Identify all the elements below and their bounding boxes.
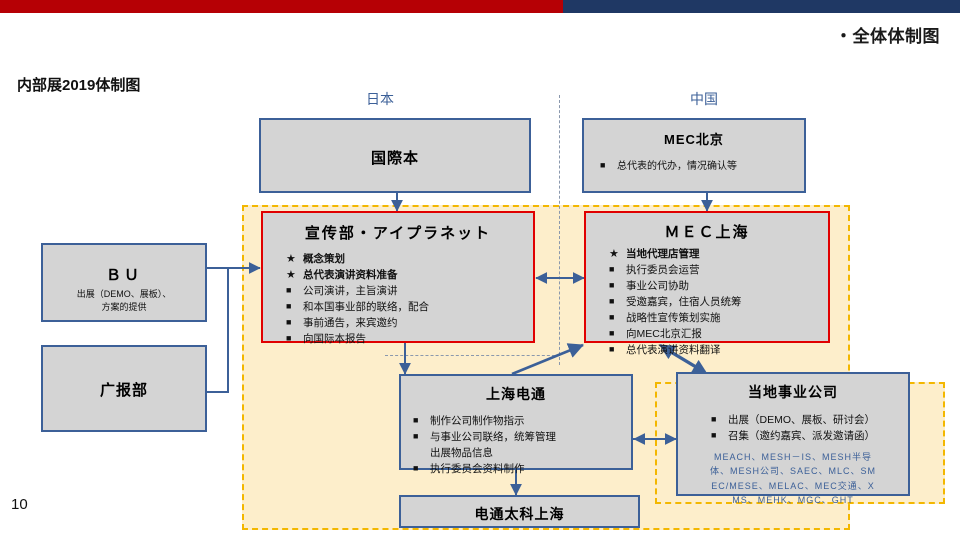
list-item: ■ 向MEC北京汇报 — [609, 327, 828, 343]
list-item-label: 执行委员会运营 — [626, 264, 700, 276]
node-bu[interactable]: ＢＵ 出展（DEMO、展板）、 方案的提供 — [41, 243, 207, 322]
affiliate-line: EC/MESE、MELAC、MEC交通、X — [678, 479, 908, 493]
list-item: ■ 总代表演讲资料翻译 — [609, 343, 828, 359]
node-publicity-iplanet-list: ★ 概念策划 ★ 总代表演讲资料准备 ■ 公司演讲，主旨演讲 ■ 和本国事业部的… — [286, 252, 533, 348]
bullet-star-icon: ★ — [286, 267, 296, 284]
bullet-square-icon: ■ — [609, 263, 614, 277]
bullet-square-icon: ■ — [286, 300, 291, 314]
list-item-label: 总代表的代办，情况确认等 — [617, 161, 737, 172]
list-item-label: 当地代理店管理 — [626, 248, 700, 260]
list-item-label: 制作公司制作物指示 — [430, 415, 525, 427]
list-item: ■ 与事业公司联络，统筹管理 — [413, 430, 631, 446]
list-item: 出展物品信息 — [413, 446, 631, 462]
node-local-business-company[interactable]: 当地事业公司 ■ 出展（DEMO、展板、研讨会） ■ 召集（邀约嘉宾、派发邀请函… — [676, 372, 910, 496]
list-item: ■ 和本国事业部的联络，配合 — [286, 300, 533, 316]
bullet-square-icon: ■ — [609, 343, 614, 357]
node-mec-shanghai-list: ★ 当地代理店管理 ■ 执行委员会运营 ■ 事业公司协助 ■ 受邀嘉宾，住宿人员… — [609, 247, 828, 359]
list-item-label: 出展物品信息 — [430, 447, 493, 459]
node-shanghai-dentsu[interactable]: 上海电通 ■ 制作公司制作物指示 ■ 与事业公司联络，统筹管理 出展物品信息 ■… — [399, 374, 633, 470]
list-item: ■ 召集（邀约嘉宾、派发邀请函） — [711, 429, 908, 445]
list-item-label: 出展（DEMO、展板、研讨会） — [728, 414, 875, 426]
bullet-square-icon: ■ — [286, 316, 291, 330]
bullet-square-icon: ■ — [609, 311, 614, 325]
list-item: ■ 事业公司协助 — [609, 279, 828, 295]
node-pr-department[interactable]: 广报部 — [41, 345, 207, 432]
bullet-square-icon: ■ — [286, 332, 291, 346]
list-item: ■ 公司演讲，主旨演讲 — [286, 284, 533, 300]
bullet-star-icon: ★ — [609, 246, 619, 263]
affiliate-line: MEACH、MESH－IS、MESH半导 — [678, 450, 908, 464]
bullet-square-icon: ■ — [609, 295, 614, 309]
list-item-label: 总代表演讲资料准备 — [303, 269, 398, 281]
node-bu-subtitle-line2: 方案的提供 — [43, 301, 205, 314]
node-pr-department-title: 广报部 — [43, 379, 205, 400]
list-item-label: 向MEC北京汇报 — [626, 328, 702, 340]
affiliate-line: MS、MEHK、MGC、GHT — [678, 493, 908, 507]
list-item-label: 事前通告，来宾邀约 — [303, 317, 398, 329]
list-item-label: 召集（邀约嘉宾、派发邀请函） — [728, 430, 875, 442]
node-mec-beijing-title: MEC北京 — [584, 129, 804, 148]
node-bu-subtitle-line1: 出展（DEMO、展板）、 — [43, 288, 205, 301]
list-item: ★ 当地代理店管理 — [609, 247, 828, 263]
bullet-square-icon: ■ — [609, 279, 614, 293]
list-item: ■ 战略性宣传策划实施 — [609, 311, 828, 327]
node-mec-beijing-list: ■ 总代表的代办，情况确认等 — [600, 159, 804, 174]
list-item-label: 受邀嘉宾，住宿人员统筹 — [626, 296, 742, 308]
affiliate-line: 体、MESH公司、SAEC、MLC、SM — [678, 464, 908, 478]
list-item: ★ 总代表演讲资料准备 — [286, 268, 533, 284]
node-publicity-iplanet[interactable]: 宣传部・アイプラネット ★ 概念策划 ★ 总代表演讲资料准备 ■ 公司演讲，主旨… — [261, 211, 535, 343]
node-kokusai-hq[interactable]: 国際本 — [259, 118, 531, 193]
node-local-business-company-list: ■ 出展（DEMO、展板、研讨会） ■ 召集（邀约嘉宾、派发邀请函） — [711, 413, 908, 445]
bullet-square-icon: ■ — [286, 284, 291, 298]
list-item: ■ 执行委员会资料制作 — [413, 462, 631, 478]
list-item: ★ 概念策划 — [286, 252, 533, 268]
list-item: ■ 受邀嘉宾，住宿人员统筹 — [609, 295, 828, 311]
list-item-label: 公司演讲，主旨演讲 — [303, 285, 398, 297]
bullet-square-icon: ■ — [711, 429, 716, 443]
node-local-business-company-affiliates: MEACH、MESH－IS、MESH半导 体、MESH公司、SAEC、MLC、S… — [678, 450, 908, 508]
node-shanghai-dentsu-list: ■ 制作公司制作物指示 ■ 与事业公司联络，统筹管理 出展物品信息 ■ 执行委员… — [413, 414, 631, 478]
list-item-label: 和本国事业部的联络，配合 — [303, 301, 429, 313]
node-bu-subtitle: 出展（DEMO、展板）、 方案的提供 — [43, 288, 205, 314]
list-item-label: 战略性宣传策划实施 — [626, 312, 721, 324]
slide-canvas: ・全体体制图 内部展2019体制图 10 日本 中国 — [0, 0, 960, 540]
node-dentsu-taika-shanghai[interactable]: 电通太科上海 — [399, 495, 640, 528]
list-item: ■ 向国际本报告 — [286, 332, 533, 348]
list-item-label: 执行委员会资料制作 — [430, 463, 525, 475]
bullet-square-icon: ■ — [413, 414, 418, 428]
node-dentsu-taika-shanghai-title: 电通太科上海 — [401, 504, 638, 524]
bullet-square-icon: ■ — [711, 413, 716, 427]
bullet-square-icon: ■ — [413, 462, 418, 476]
node-mec-beijing[interactable]: MEC北京 ■ 总代表的代办，情况确认等 — [582, 118, 806, 193]
node-shanghai-dentsu-title: 上海电通 — [401, 384, 631, 404]
bullet-square-icon: ■ — [413, 430, 418, 444]
list-item-label: 概念策划 — [303, 253, 345, 265]
node-kokusai-hq-title: 国際本 — [261, 147, 529, 168]
list-item: ■ 总代表的代办，情况确认等 — [600, 159, 804, 174]
bullet-square-icon: ■ — [609, 327, 614, 341]
node-bu-title: ＢＵ — [43, 264, 205, 285]
node-mec-shanghai-title: ＭＥＣ上海 — [586, 221, 828, 242]
bullet-square-icon: ■ — [600, 159, 605, 173]
bullet-star-icon: ★ — [286, 251, 296, 268]
list-item: ■ 出展（DEMO、展板、研讨会） — [711, 413, 908, 429]
node-local-business-company-title: 当地事业公司 — [678, 382, 908, 402]
node-publicity-iplanet-title: 宣传部・アイプラネット — [263, 222, 533, 243]
list-item-label: 与事业公司联络，统筹管理 — [430, 431, 556, 443]
list-item: ■ 制作公司制作物指示 — [413, 414, 631, 430]
list-item: ■ 执行委员会运营 — [609, 263, 828, 279]
node-mec-shanghai[interactable]: ＭＥＣ上海 ★ 当地代理店管理 ■ 执行委员会运营 ■ 事业公司协助 ■ 受邀嘉… — [584, 211, 830, 343]
list-item: ■ 事前通告，来宾邀约 — [286, 316, 533, 332]
list-item-label: 向国际本报告 — [303, 333, 366, 345]
list-item-label: 事业公司协助 — [626, 280, 689, 292]
list-item-label: 总代表演讲资料翻译 — [626, 344, 721, 356]
